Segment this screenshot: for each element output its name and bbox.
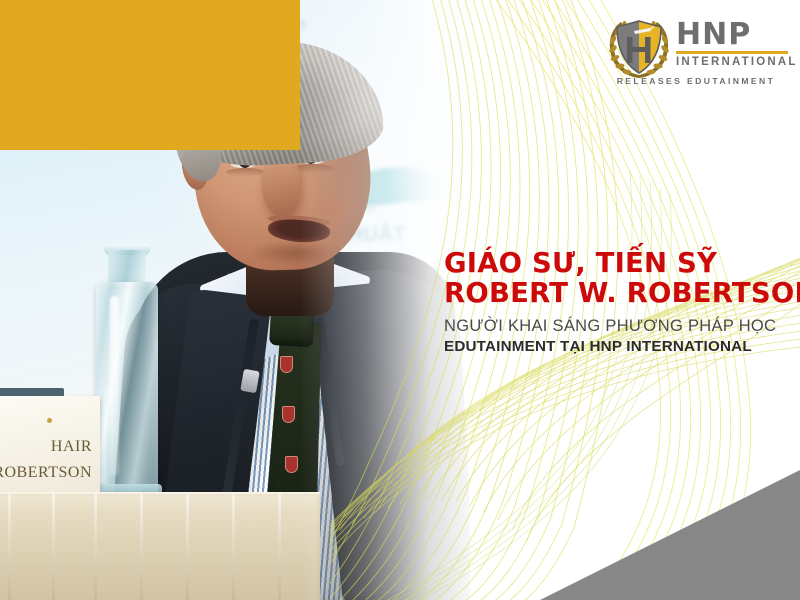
logo-international-text: INTERNATIONAL <box>676 56 788 69</box>
under-eye-left <box>226 168 266 177</box>
grey-corner-wedge <box>540 470 800 600</box>
placard-line-2: ROBERTSON <box>0 464 100 482</box>
tie-crest-motif <box>280 356 293 373</box>
carafe-highlight <box>110 296 119 476</box>
hnp-wordmark: HNP INTERNATIONAL <box>676 20 788 69</box>
table-cloth <box>0 494 320 600</box>
hnp-shield-laurel-emblem <box>604 18 674 80</box>
headline-line-1: GIÁO SƯ, TIẾN SỸ <box>444 248 788 278</box>
headline-line-2: ROBERT W. ROBERTSON <box>444 278 788 308</box>
placard-line-1: HAIR <box>0 438 100 456</box>
promo-banner: essor, ĐẠI HỌC KỸ THUẬT <box>0 0 800 600</box>
tie-crest-motif <box>285 456 298 473</box>
gold-corner-wedge <box>0 0 300 150</box>
subheadline-line-2: EDUTAINMENT TẠI HNP INTERNATIONAL <box>444 337 788 357</box>
hnp-logo[interactable]: HNP INTERNATIONAL RELEASES EDUTAINMENT <box>604 18 784 92</box>
logo-hnp-text: HNP <box>676 20 788 50</box>
placard-emblem-dot <box>47 418 52 423</box>
logo-tagline: RELEASES EDUTAINMENT <box>608 76 784 86</box>
water-carafe <box>96 282 158 500</box>
subheadline-line-1: NGƯỜI KHAI SÁNG PHƯƠNG PHÁP HỌC <box>444 315 788 337</box>
tie-crest-motif <box>282 406 295 423</box>
headline-block: GIÁO SƯ, TIẾN SỸ ROBERT W. ROBERTSON NGƯ… <box>444 248 788 357</box>
name-placard: HAIR ROBERTSON <box>0 396 100 496</box>
